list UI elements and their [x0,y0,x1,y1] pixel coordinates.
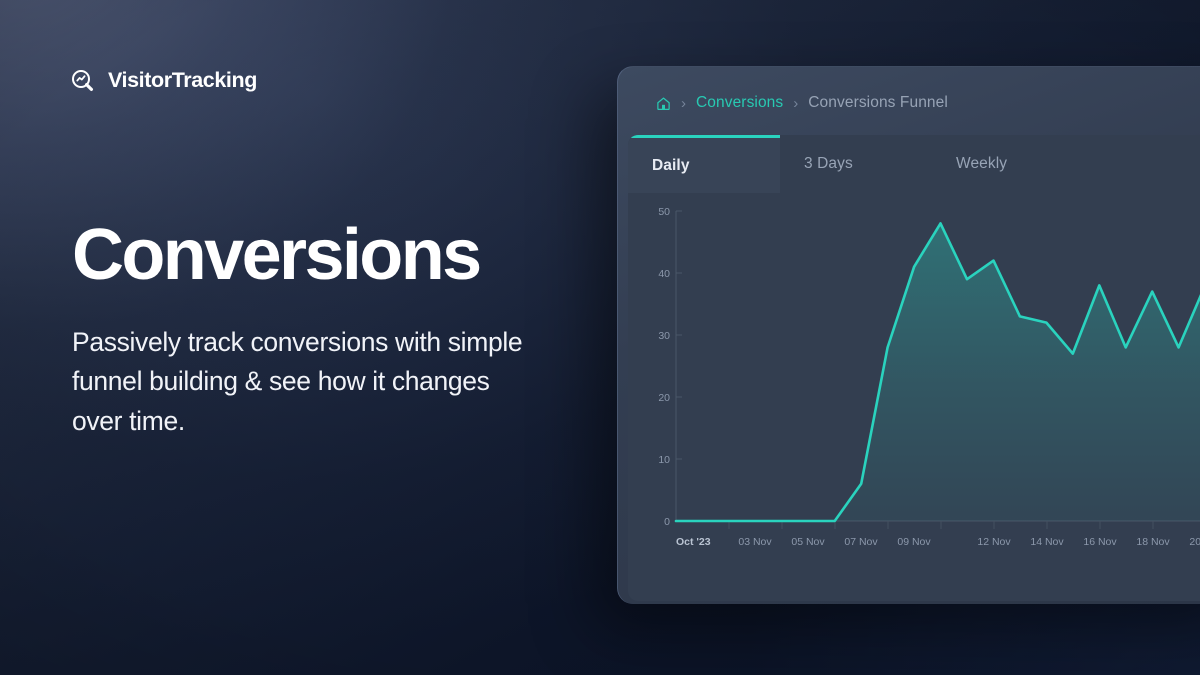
chart-area-fill [676,223,1200,521]
svg-text:50: 50 [658,206,670,218]
svg-text:07 Nov: 07 Nov [844,536,878,548]
tab-bar: Daily 3 Days Weekly [628,135,1200,193]
hero-section: Conversions Passively track conversions … [72,218,592,441]
breadcrumb: › Conversions › Conversions Funnel [628,77,1200,129]
svg-text:20 Nov: 20 Nov [1189,536,1200,548]
svg-text:40: 40 [658,268,670,280]
tab-3-days[interactable]: 3 Days [780,135,932,193]
svg-text:0: 0 [664,516,670,528]
svg-text:Oct '23: Oct '23 [676,536,711,548]
breadcrumb-item-conversions[interactable]: Conversions [696,94,783,112]
brand-name: VisitorTracking [108,70,257,92]
chart-x-axis-labels: Oct '23 03 Nov 05 Nov 07 Nov 09 Nov 12 N… [676,536,1200,548]
home-icon[interactable] [656,96,671,111]
svg-text:03 Nov: 03 Nov [738,536,772,548]
conversions-area-chart: 50 40 30 20 10 0 Oct '23 03 Nov 05 Nov 0… [628,193,1200,601]
svg-text:14 Nov: 14 Nov [1030,536,1064,548]
breadcrumb-separator-2: › [793,96,798,111]
tab-weekly[interactable]: Weekly [932,135,1084,193]
svg-text:09 Nov: 09 Nov [897,536,931,548]
svg-text:16 Nov: 16 Nov [1083,536,1117,548]
hero-subtitle: Passively track conversions with simple … [72,323,542,441]
dashboard-card: › Conversions › Conversions Funnel Daily… [617,66,1200,604]
svg-text:12 Nov: 12 Nov [977,536,1011,548]
breadcrumb-separator-1: › [681,96,686,111]
tab-daily[interactable]: Daily [628,135,780,193]
svg-text:30: 30 [658,330,670,342]
tab-daily-label: Daily [652,157,690,175]
chart-panel: Daily 3 Days Weekly [628,135,1200,601]
magnifier-chart-icon [70,68,96,94]
svg-text:20: 20 [658,392,670,404]
svg-text:05 Nov: 05 Nov [791,536,825,548]
brand-logo: VisitorTracking [70,68,257,94]
page-title: Conversions [72,218,592,293]
svg-text:18 Nov: 18 Nov [1136,536,1170,548]
chart-y-axis-labels: 50 40 30 20 10 0 [658,206,670,528]
tab-3-days-label: 3 Days [804,155,853,173]
tab-weekly-label: Weekly [956,155,1007,173]
svg-text:10: 10 [658,454,670,466]
breadcrumb-item-conversions-funnel: Conversions Funnel [808,94,948,112]
